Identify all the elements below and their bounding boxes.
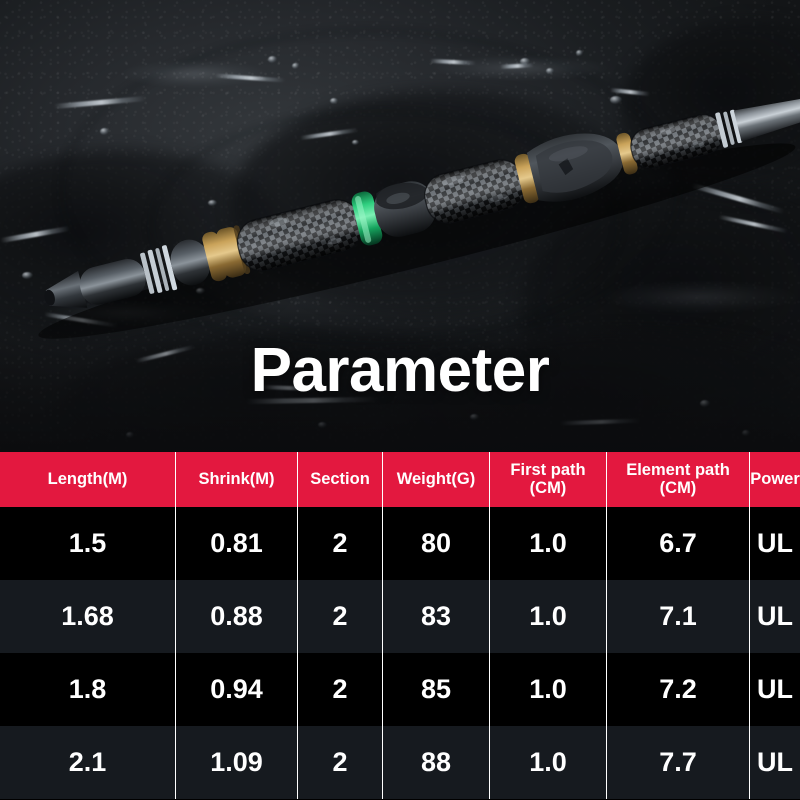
- table-row: 1.5 0.81 2 80 1.0 6.7 UL: [0, 507, 800, 580]
- cell-first-path: 1.0: [490, 726, 607, 799]
- column-header-power: Power: [750, 452, 800, 507]
- cell-shrink: 0.81: [176, 507, 298, 580]
- cell-element-path: 7.2: [607, 653, 750, 726]
- header-label: Length(M): [48, 471, 128, 489]
- column-header-length: Length(M): [0, 452, 176, 507]
- header-label: Section: [310, 471, 370, 489]
- column-header-element-path: Element path (CM): [607, 452, 750, 507]
- parameter-table: Length(M) Shrink(M) Section Weight(G) Fi…: [0, 452, 800, 800]
- cell-power: UL: [750, 580, 800, 653]
- cell-shrink: 1.09: [176, 726, 298, 799]
- product-parameter-page: Parameter Length(M) Shrink(M) Section We…: [0, 0, 800, 800]
- cell-first-path: 1.0: [490, 507, 607, 580]
- table-row: 2.1 1.09 2 88 1.0 7.7 UL: [0, 726, 800, 799]
- header-label: Power: [750, 471, 800, 489]
- cell-section: 2: [298, 726, 383, 799]
- column-header-shrink: Shrink(M): [176, 452, 298, 507]
- header-label: First path (CM): [510, 462, 585, 498]
- header-label: Shrink(M): [198, 471, 274, 489]
- cell-power: UL: [750, 726, 800, 799]
- cell-length: 1.8: [0, 653, 176, 726]
- cell-section: 2: [298, 653, 383, 726]
- column-header-section: Section: [298, 452, 383, 507]
- cell-power: UL: [750, 507, 800, 580]
- hero-photo: Parameter: [0, 0, 800, 452]
- cell-power: UL: [750, 653, 800, 726]
- cell-section: 2: [298, 580, 383, 653]
- cell-element-path: 7.1: [607, 580, 750, 653]
- header-label: Element path (CM): [626, 462, 730, 498]
- table-row: 1.68 0.88 2 83 1.0 7.1 UL: [0, 580, 800, 653]
- column-header-first-path: First path (CM): [490, 452, 607, 507]
- page-title: Parameter: [0, 340, 800, 402]
- cell-first-path: 1.0: [490, 653, 607, 726]
- cell-section: 2: [298, 507, 383, 580]
- cell-shrink: 0.88: [176, 580, 298, 653]
- cell-length: 1.68: [0, 580, 176, 653]
- cell-weight: 83: [383, 580, 490, 653]
- table-header-row: Length(M) Shrink(M) Section Weight(G) Fi…: [0, 452, 800, 507]
- cell-shrink: 0.94: [176, 653, 298, 726]
- cell-element-path: 6.7: [607, 507, 750, 580]
- cell-length: 2.1: [0, 726, 176, 799]
- header-label: Weight(G): [397, 471, 476, 489]
- cell-first-path: 1.0: [490, 580, 607, 653]
- column-header-weight: Weight(G): [383, 452, 490, 507]
- table-row: 1.8 0.94 2 85 1.0 7.2 UL: [0, 653, 800, 726]
- cell-weight: 88: [383, 726, 490, 799]
- cell-weight: 80: [383, 507, 490, 580]
- cell-weight: 85: [383, 653, 490, 726]
- cell-length: 1.5: [0, 507, 176, 580]
- cell-element-path: 7.7: [607, 726, 750, 799]
